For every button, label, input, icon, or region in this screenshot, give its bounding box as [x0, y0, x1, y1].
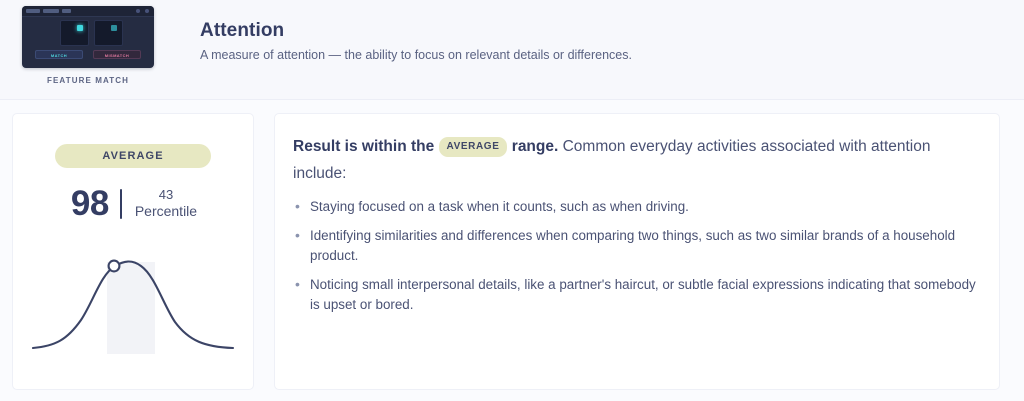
percentile-block: 43 Percentile — [135, 188, 197, 219]
activities-list: Staying focused on a task when it counts… — [293, 197, 981, 314]
list-item: Staying focused on a task when it counts… — [293, 197, 981, 217]
detail-card: Result is within the AVERAGE range. Comm… — [274, 113, 1000, 390]
score-row: 98 43 Percentile — [13, 186, 255, 221]
detail-inner: Result is within the AVERAGE range. Comm… — [293, 134, 981, 314]
bell-curve-chart — [29, 244, 239, 359]
percentile-label: Percentile — [135, 203, 197, 219]
thumbnail-preview[interactable]: MATCH MISMATCH — [22, 6, 154, 68]
header-band: MATCH MISMATCH FEATURE MATCH Attention A… — [0, 0, 1024, 100]
header-text-block: Attention A measure of attention — the a… — [200, 20, 990, 64]
page-subtitle: A measure of attention — the ability to … — [200, 47, 990, 64]
page-title: Attention — [200, 20, 990, 42]
thumbnail-caption: FEATURE MATCH — [22, 76, 154, 85]
score-divider — [120, 189, 122, 219]
bell-curve-band — [107, 262, 155, 354]
result-summary-range: range. — [512, 138, 559, 155]
list-item: Identifying similarities and differences… — [293, 226, 981, 266]
thumbnail-titlebar — [22, 6, 154, 17]
titlebar-chip-icon — [62, 9, 71, 13]
content-area: AVERAGE 98 43 Percentile Result is withi… — [0, 100, 1024, 401]
titlebar-chip-icon — [43, 9, 59, 13]
bell-curve-svg — [29, 244, 239, 359]
score-card: AVERAGE 98 43 Percentile — [12, 113, 254, 390]
score-value: 98 — [71, 186, 109, 221]
titlebar-chip-icon — [26, 9, 40, 13]
thumbnail-match-button[interactable]: MATCH — [35, 50, 83, 59]
stimulus-square-icon — [77, 25, 83, 31]
result-summary-prefix: Result is within the — [293, 138, 434, 155]
stimulus-panel-left — [60, 20, 89, 46]
status-badge: AVERAGE — [55, 144, 211, 168]
result-summary: Result is within the AVERAGE range. Comm… — [293, 134, 981, 187]
close-icon — [145, 9, 149, 13]
test-thumbnail[interactable]: MATCH MISMATCH FEATURE MATCH — [22, 6, 154, 85]
minimize-icon — [136, 9, 140, 13]
percentile-value: 43 — [135, 188, 197, 203]
list-item: Noticing small interpersonal details, li… — [293, 275, 981, 315]
thumbnail-mismatch-button[interactable]: MISMATCH — [93, 50, 141, 59]
inline-status-badge: AVERAGE — [439, 137, 508, 157]
stimulus-square-icon — [111, 25, 117, 31]
stimulus-panel-right — [94, 20, 123, 46]
bell-curve-marker — [109, 261, 120, 272]
